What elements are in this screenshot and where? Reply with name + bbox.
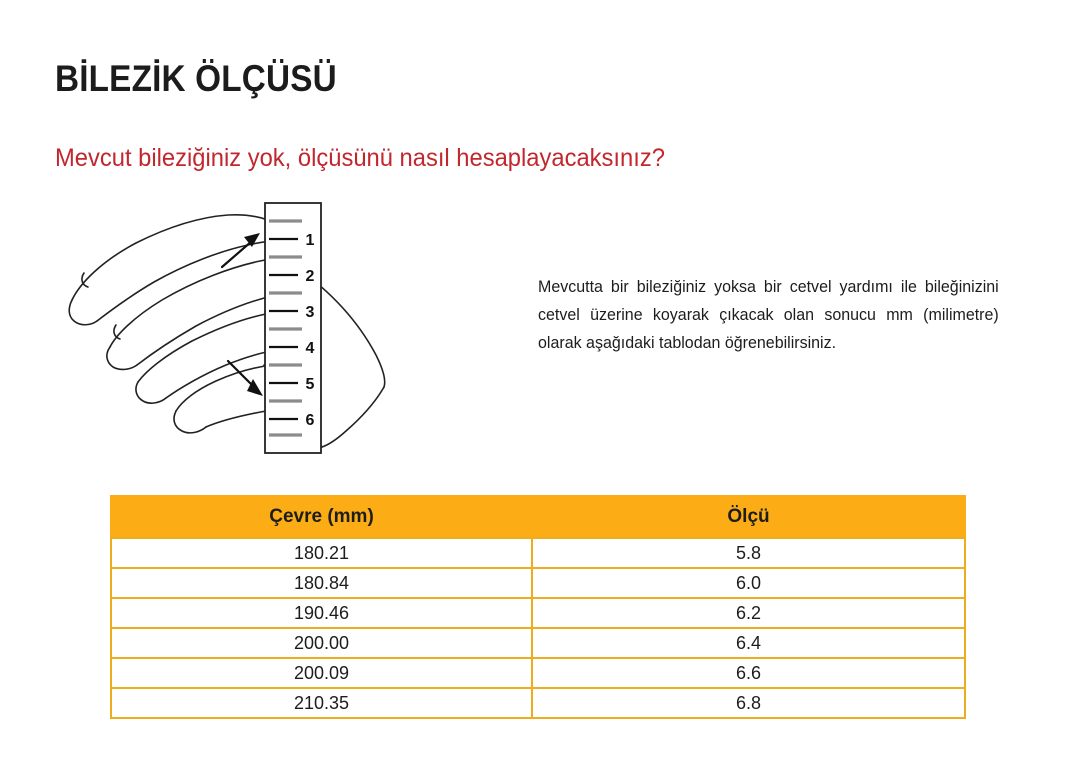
finger-1-bottom-edge (97, 241, 289, 321)
wrist-bottom-curve (322, 387, 384, 447)
ruler-label-1: 1 (306, 232, 315, 249)
table-row: 210.35 6.8 (111, 688, 965, 718)
bracelet-size-table: Çevre (mm) Ölçü 180.21 5.8 180.84 6.0 19… (110, 495, 966, 719)
ruler-label-3: 3 (306, 304, 315, 321)
ruler-label-5: 5 (306, 376, 315, 393)
finger-2-tip (107, 347, 137, 369)
description-paragraph: Mevcutta bir bileziğiniz yoksa bir cetve… (538, 273, 999, 358)
cell-circumference: 200.00 (111, 628, 532, 658)
cell-size: 6.6 (532, 658, 965, 688)
finger-3-top-edge (138, 314, 266, 382)
table-row: 180.84 6.0 (111, 568, 965, 598)
hand-on-ruler-illustration: 1 2 3 4 5 6 (50, 195, 470, 470)
finger-2-top-edge (110, 258, 290, 347)
table-header-row: Çevre (mm) Ölçü (111, 496, 965, 538)
cell-circumference: 200.09 (111, 658, 532, 688)
cell-size: 6.8 (532, 688, 965, 718)
table-row: 200.09 6.6 (111, 658, 965, 688)
finger-3-tip (136, 382, 166, 403)
cell-circumference: 190.46 (111, 598, 532, 628)
hand-outline-group (69, 215, 385, 447)
page-subtitle: Mevcut bileziğiniz yok, ölçüsünü nasıl h… (55, 143, 665, 173)
table-body: 180.21 5.8 180.84 6.0 190.46 6.2 200.00 … (111, 538, 965, 718)
hand-ruler-svg: 1 2 3 4 5 6 (50, 195, 470, 470)
cell-circumference: 210.35 (111, 688, 532, 718)
thumb-tip (174, 411, 206, 433)
table-row: 180.21 5.8 (111, 538, 965, 568)
arrow-lower-pointing-between-5-and-6 (228, 361, 263, 396)
cell-size: 5.8 (532, 538, 965, 568)
column-header-size: Ölçü (532, 496, 965, 538)
size-table-container: Çevre (mm) Ölçü 180.21 5.8 180.84 6.0 19… (110, 495, 966, 719)
knuckle-nick-2 (114, 325, 120, 339)
ruler-label-2: 2 (306, 268, 315, 285)
finger-1-top-edge (72, 215, 289, 300)
page-title: BİLEZİK ÖLÇÜSÜ (55, 58, 337, 99)
finger-1-tip (69, 300, 97, 325)
ruler-label-4: 4 (306, 340, 315, 357)
cell-circumference: 180.21 (111, 538, 532, 568)
ruler-group: 1 2 3 4 5 6 (265, 203, 321, 453)
cell-size: 6.4 (532, 628, 965, 658)
arrow-upper-shaft (222, 241, 252, 267)
cell-size: 6.0 (532, 568, 965, 598)
table-header: Çevre (mm) Ölçü (111, 496, 965, 538)
column-header-circumference: Çevre (mm) (111, 496, 532, 538)
table-row: 190.46 6.2 (111, 598, 965, 628)
table-row: 200.00 6.4 (111, 628, 965, 658)
ruler-label-6: 6 (306, 412, 315, 429)
cell-size: 6.2 (532, 598, 965, 628)
cell-circumference: 180.84 (111, 568, 532, 598)
